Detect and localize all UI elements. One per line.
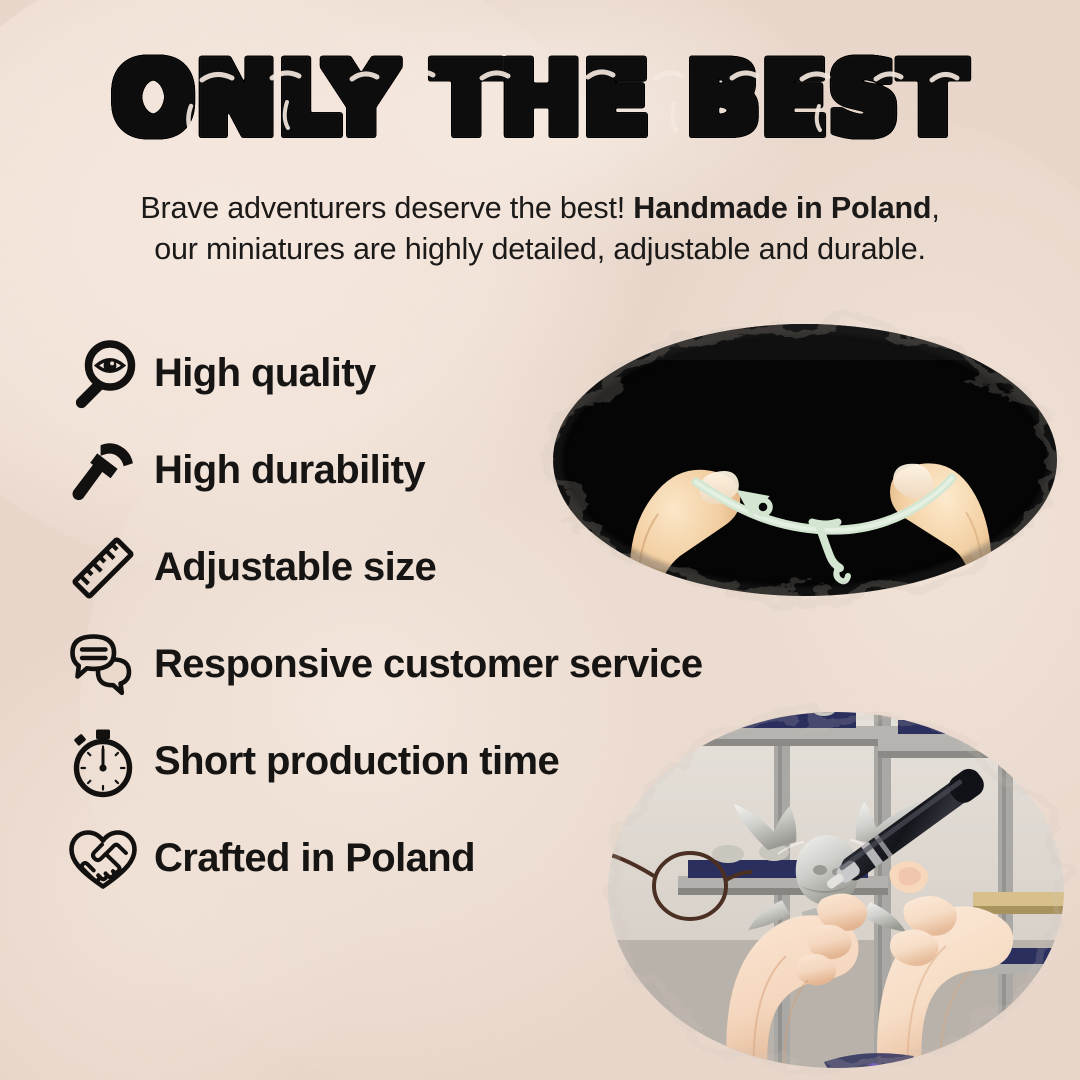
- feature-label: High quality: [154, 351, 376, 396]
- magnifier-eye-icon: [64, 335, 142, 413]
- poster-canvas: ONLY THE BEST: [0, 0, 1080, 1080]
- subtitle-text-after-bold: ,: [931, 191, 939, 225]
- photo-flexible-miniature: [520, 300, 1080, 630]
- feature-label: Responsive customer service: [154, 642, 703, 687]
- page-title: ONLY THE BEST: [0, 36, 1080, 161]
- feature-label: High durability: [154, 448, 425, 493]
- subtitle-line-2: our miniatures are highly detailed, adju…: [154, 232, 926, 266]
- subtitle-line-1: Brave adventurers deserve the best! Hand…: [140, 191, 939, 225]
- hammer-icon: [64, 432, 142, 510]
- photo-workshop-painting: [578, 690, 1080, 1080]
- speech-bubbles-icon: [64, 626, 142, 704]
- svg-text:ONLY THE BEST: ONLY THE BEST: [112, 43, 967, 155]
- subtitle-text-before-bold: Brave adventurers deserve the best!: [140, 191, 633, 225]
- stopwatch-icon: [64, 723, 142, 801]
- feature-label: Adjustable size: [154, 545, 436, 590]
- subtitle: Brave adventurers deserve the best! Hand…: [90, 188, 990, 269]
- feature-label: Crafted in Poland: [154, 836, 475, 881]
- subtitle-bold-phrase: Handmade in Poland: [633, 191, 931, 225]
- ruler-icon: [64, 529, 142, 607]
- page-title-art: ONLY THE BEST: [90, 36, 990, 161]
- feature-label: Short production time: [154, 739, 559, 784]
- handshake-heart-icon: [64, 820, 142, 898]
